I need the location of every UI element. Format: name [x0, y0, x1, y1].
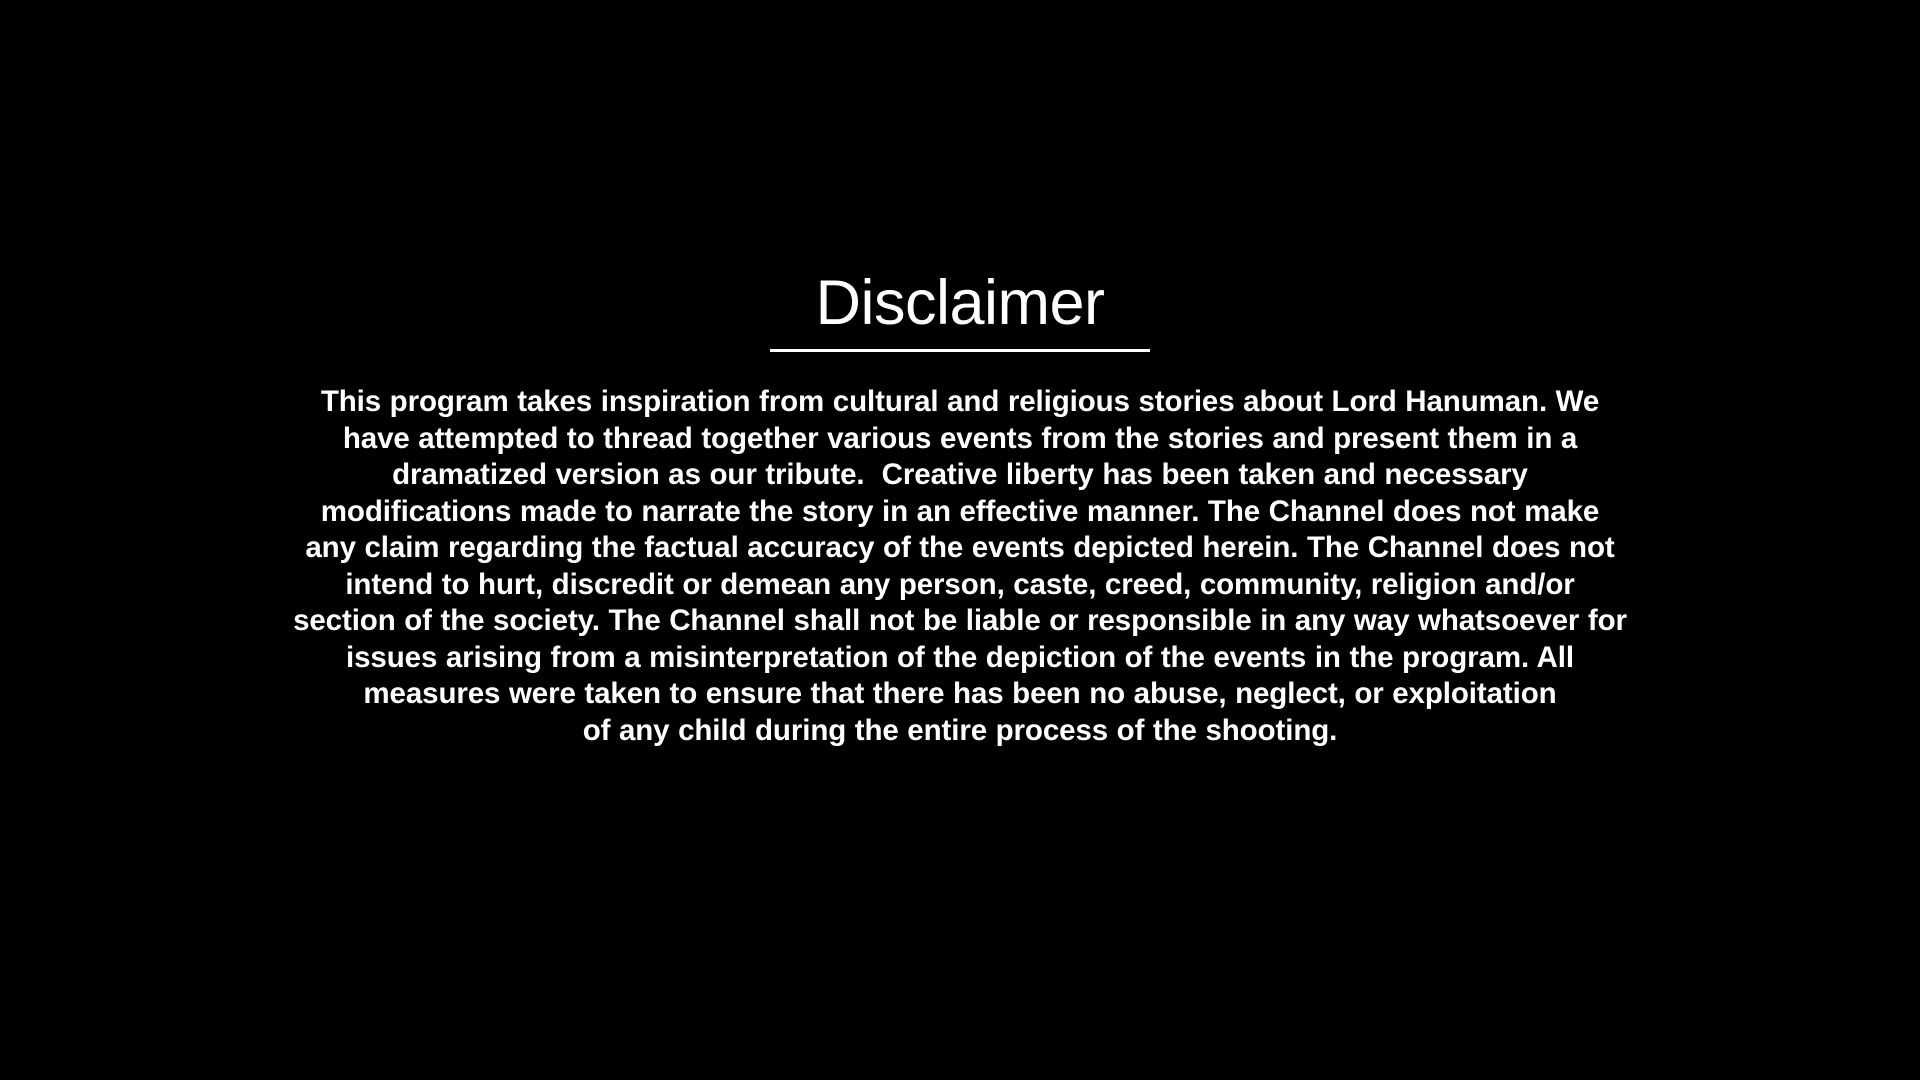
disclaimer-content: Disclaimer This program takes inspiratio… — [150, 268, 1770, 749]
disclaimer-slide: Disclaimer This program takes inspiratio… — [0, 0, 1920, 1080]
page-title: Disclaimer — [150, 268, 1770, 338]
disclaimer-body-text: This program takes inspiration from cult… — [190, 384, 1730, 749]
title-underline-divider — [770, 349, 1150, 352]
